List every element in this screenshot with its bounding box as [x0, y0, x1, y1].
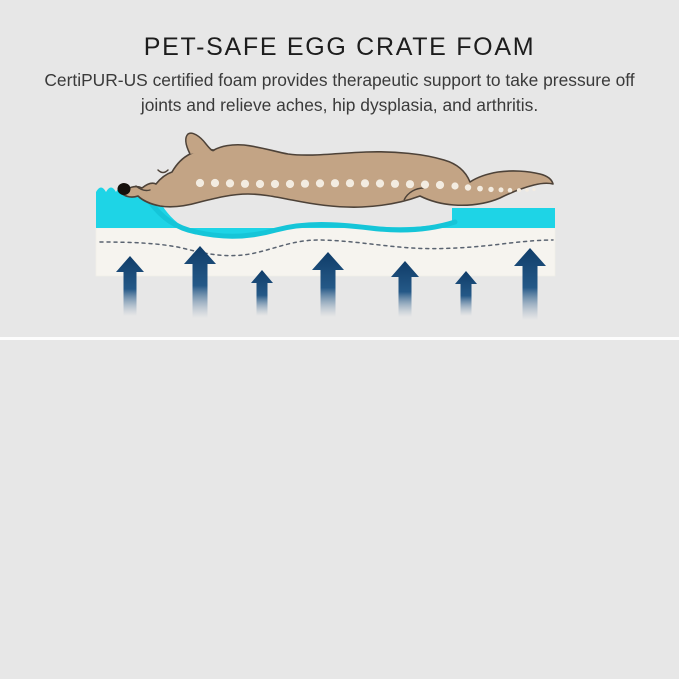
- section-pet-safe-foam: PET-SAFE EGG CRATE FOAM CertiPUR-US cert…: [0, 0, 679, 338]
- support-arrow: [251, 270, 273, 316]
- section-increased-airflow: INCREASED AIRFLOW: [0, 340, 679, 679]
- foam-cross-section-illustration: [0, 130, 679, 335]
- infographic-page: PET-SAFE EGG CRATE FOAM CertiPUR-US cert…: [0, 0, 679, 679]
- dog-illustration-top: [118, 133, 554, 207]
- support-arrow: [455, 271, 477, 316]
- page-title-foam: PET-SAFE EGG CRATE FOAM: [0, 33, 679, 62]
- section-divider: [0, 337, 679, 340]
- foam-description: CertiPUR-US certified foam provides ther…: [0, 68, 679, 118]
